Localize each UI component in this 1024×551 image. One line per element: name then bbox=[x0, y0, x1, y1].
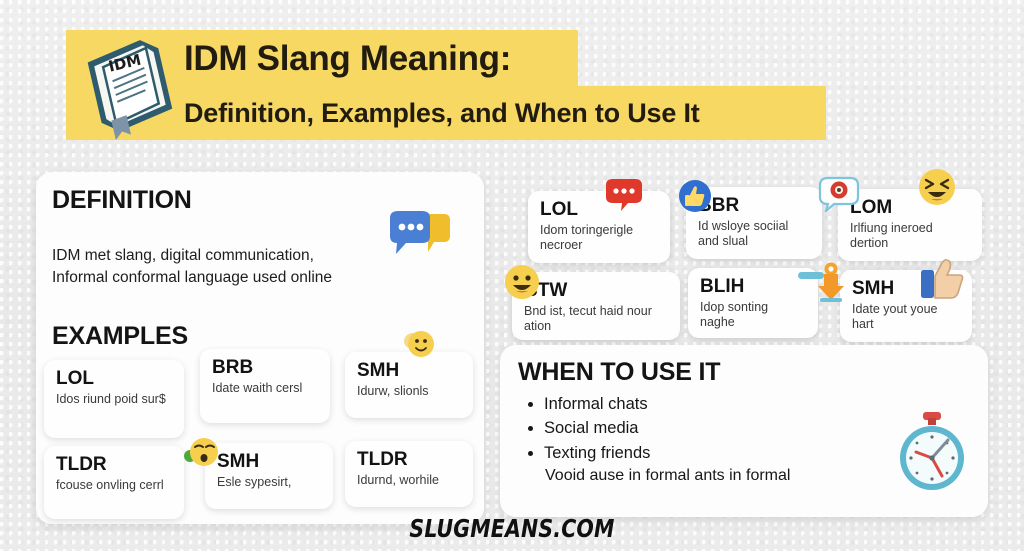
term-card[interactable]: LOL Idom toringerigle necroer bbox=[528, 191, 670, 263]
example-desc: Esle sypesirt, bbox=[217, 475, 321, 490]
when-to-use-heading: WHEN TO USE IT bbox=[518, 358, 720, 387]
example-desc: fcouse onvling cerrl bbox=[56, 478, 172, 493]
term-desc: Id wsloye sociial and slual bbox=[698, 219, 810, 250]
example-desc: Idos riund poid sur$ bbox=[56, 392, 172, 407]
list-item: Informal chats bbox=[544, 392, 904, 416]
examples-heading: EXAMPLES bbox=[52, 322, 188, 351]
term-desc: Idate yout youe hart bbox=[852, 302, 960, 333]
grinning-face-icon bbox=[504, 264, 540, 300]
header-banner: IDM IDM Slang Meaning: Definition, Examp… bbox=[66, 30, 826, 140]
page-title-line1: IDM Slang Meaning: bbox=[184, 31, 511, 87]
example-term: TLDR bbox=[56, 455, 172, 475]
term-desc: Bnd ist, tecut haid nour ation bbox=[524, 304, 668, 335]
definition-body: IDM met slang, digital communication, In… bbox=[52, 245, 402, 290]
example-term: TLDR bbox=[357, 450, 461, 470]
example-term: SMH bbox=[357, 361, 461, 381]
definition-line-2: Informal conformal language used online bbox=[52, 267, 402, 289]
page-title-line2: Definition, Examples, and When to Use It bbox=[184, 87, 700, 139]
example-desc: Idurnd, worhile bbox=[357, 473, 461, 488]
example-term: SMH bbox=[217, 452, 321, 472]
example-term: BRB bbox=[212, 358, 318, 378]
list-item: Social media bbox=[544, 416, 904, 440]
definition-heading: DEFINITION bbox=[52, 186, 192, 215]
example-desc: Idate waith cersl bbox=[212, 381, 318, 396]
red-speech-bubble-icon bbox=[604, 178, 644, 212]
arrow-down-icon bbox=[798, 262, 848, 304]
when-to-use-list: Informal chats Social media Texting frie… bbox=[524, 392, 904, 465]
site-watermark: SLUGMEANS.COM bbox=[92, 514, 932, 543]
eye-speech-bubble-icon bbox=[818, 176, 860, 212]
speech-bubbles-icon bbox=[388, 210, 452, 262]
smiley-face-icon bbox=[402, 328, 436, 360]
list-item: Texting friends bbox=[544, 441, 904, 465]
term-desc: Idop sonting naghe bbox=[700, 300, 806, 331]
thumbs-up-hand-icon bbox=[920, 258, 964, 300]
term-label: BLIH bbox=[700, 277, 806, 297]
term-desc: Irlfiung ineroed dertion bbox=[850, 221, 970, 252]
example-desc: Idurw, slionls bbox=[357, 384, 461, 399]
book-icon: IDM bbox=[74, 32, 182, 140]
term-label: BTW bbox=[524, 281, 668, 301]
term-desc: Idom toringerigle necroer bbox=[540, 223, 658, 254]
laughing-face-icon bbox=[918, 168, 956, 206]
when-to-use-note: Vooid ause in formal ants in formal bbox=[545, 466, 905, 487]
term-label: BBR bbox=[698, 196, 810, 216]
example-card[interactable]: BRB Idate waith cersl bbox=[200, 349, 330, 423]
example-card[interactable]: SMH Esle sypesirt, bbox=[205, 443, 333, 509]
definition-line-1: IDM met slang, digital communication, bbox=[52, 245, 402, 267]
example-card[interactable]: TLDR Idurnd, worhile bbox=[345, 441, 473, 507]
example-card[interactable]: SMH Idurw, slionls bbox=[345, 352, 473, 418]
example-card[interactable]: LOL Idos riund poid sur$ bbox=[44, 360, 184, 438]
smiley-face-icon bbox=[183, 436, 219, 470]
example-term: LOL bbox=[56, 369, 172, 389]
stopwatch-icon bbox=[890, 410, 974, 494]
thumbs-up-badge-icon bbox=[678, 179, 712, 213]
example-card[interactable]: TLDR fcouse onvling cerrl bbox=[44, 446, 184, 519]
